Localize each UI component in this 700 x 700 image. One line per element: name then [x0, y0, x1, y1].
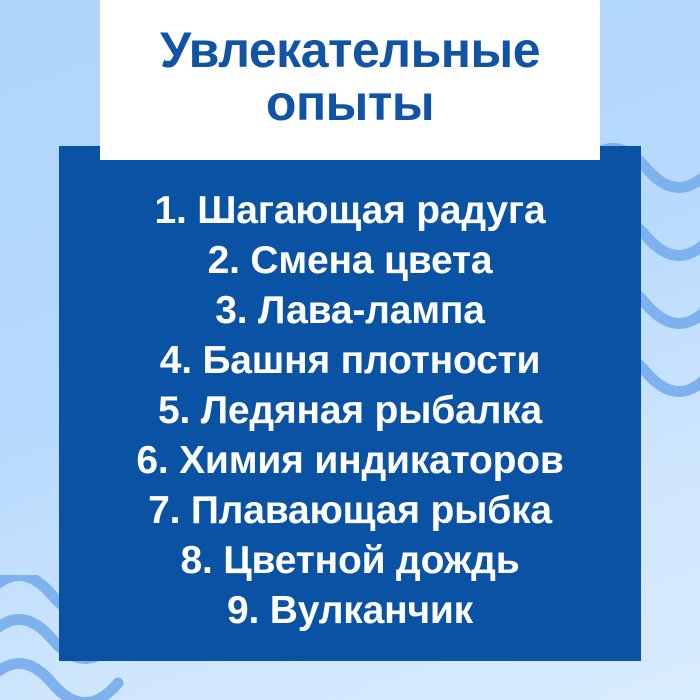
page-title: Увлекательные опыты — [152, 24, 548, 130]
list-item: 5. Ледяная рыбалка — [60, 386, 640, 436]
title-card: Увлекательные опыты — [100, 0, 600, 160]
list-item: 3. Лава-лампа — [60, 286, 640, 336]
list-item: 9. Вулканчик — [60, 586, 640, 636]
list-item: 8. Цветной дождь — [60, 536, 640, 586]
list-item: 7. Плавающая рыбка — [60, 486, 640, 536]
poster-canvas: Увлекательные опыты 1. Шагающая радуга 2… — [0, 0, 700, 700]
list-item: 4. Башня плотности — [60, 336, 640, 386]
list-item: 2. Смена цвета — [60, 236, 640, 286]
experiment-list: 1. Шагающая радуга 2. Смена цвета 3. Лав… — [60, 186, 640, 636]
list-item: 1. Шагающая радуга — [60, 186, 640, 236]
list-item: 6. Химия индикаторов — [60, 436, 640, 486]
